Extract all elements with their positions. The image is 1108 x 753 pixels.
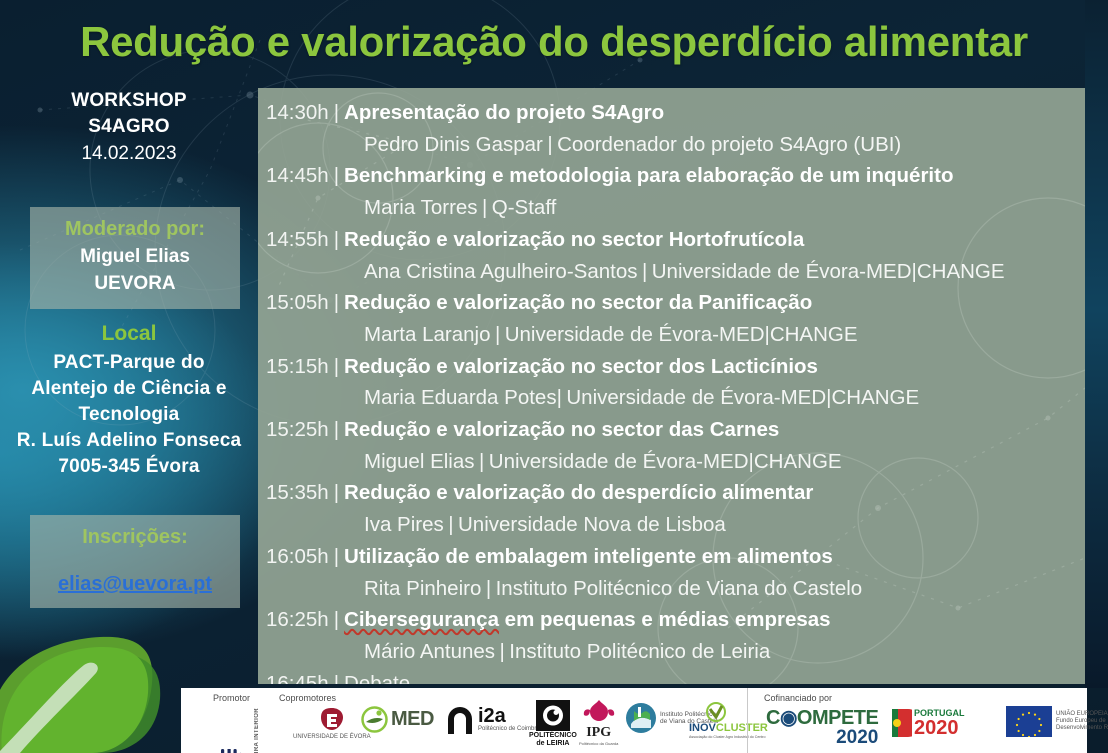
program-speaker: Maria Torres [364, 196, 478, 219]
program-time: 16:25h [266, 608, 329, 631]
i2a-mark-icon [445, 705, 475, 734]
portugal-logo-year: 2020 [914, 718, 965, 738]
program-separator: | [329, 355, 344, 378]
program-affiliation: Coordenador do projeto S4Agro (UBI) [557, 133, 901, 156]
program-time: 15:15h [266, 355, 329, 378]
program-title-misspelled-word: Cibersegurança [344, 608, 499, 631]
program-title: Debate [344, 672, 410, 684]
ipvc-mark-icon [625, 702, 657, 734]
registration-email-link[interactable]: elias@uevora.pt [58, 573, 212, 596]
program-speaker-separator: | [479, 450, 484, 473]
program-title: Redução e valorização no sector dos Lact… [344, 355, 818, 378]
politecnico-de-leiria-logo: POLITÉCNICO de LEIRIA [529, 700, 577, 748]
program-speaker: Pedro Dinis Gaspar [364, 133, 543, 156]
poster-canvas: Redução e valorização do desperdício ali… [0, 0, 1108, 753]
program-speaker-row: Maria Eduarda Potes| Universidade de Évo… [266, 383, 1085, 415]
program-time: 15:05h [266, 291, 329, 314]
program-speaker-row: Mário Antunes | Instituto Politécnico de… [266, 637, 1085, 669]
program-speaker-row: Iva Pires | Universidade Nova de Lisboa [266, 510, 1085, 542]
program-speaker-row: Rita Pinheiro | Instituto Politécnico de… [266, 574, 1085, 606]
program-speaker-row: Maria Torres | Q-Staff [266, 193, 1085, 225]
ipg-logo-subtext: Politécnico da Guarda [579, 740, 618, 747]
program-separator: | [329, 481, 344, 504]
workshop-date: 14.02.2023 [0, 140, 258, 168]
local-address: PACT-Parque do Alentejo de Ciência e Tec… [6, 350, 252, 480]
program-speaker-separator: | [495, 323, 500, 346]
program-separator: | [329, 101, 344, 124]
program-separator: | [329, 228, 344, 251]
program-speaker: Marta Laranjo [364, 323, 490, 346]
i2a-logo: i2a Politécnico de Coimbra [445, 705, 540, 734]
program-speaker: Mário Antunes [364, 640, 495, 663]
ubi-mark-icon [217, 744, 251, 753]
moderator-box: Moderado por: Miguel Elias UEVORA [30, 207, 240, 309]
eu-logo-subtext: Fundo Europeu de Desenvolvimento Regiona… [1056, 718, 1108, 732]
program-affiliation: Universidade Nova de Lisboa [458, 513, 726, 536]
universidade-de-evora-logo: UNIVERSIDADE DE ÉVORA [293, 706, 371, 741]
program-speaker-separator: | [547, 133, 552, 156]
local-address-line: 7005-345 Évora [6, 454, 252, 480]
program-time: 15:25h [266, 418, 329, 441]
moderator-institution: UEVORA [30, 270, 240, 297]
program-time: 15:35h [266, 481, 329, 504]
program-row: 16:45h|Debate [266, 669, 1085, 684]
uniao-europeia-logo: UNIÃO EUROPEIA Fundo Europeu de Desenvol… [1006, 706, 1108, 737]
program-title-rest: em pequenas e médias empresas [499, 608, 831, 631]
portugal-flag-icon [888, 707, 912, 739]
footer-promoters-section: Promotor Copromotores UNIVERSIDADE BEIRA… [181, 688, 747, 753]
program-speaker-row: Miguel Elias | Universidade de Évora-MED… [266, 447, 1085, 479]
med-mark-icon [361, 706, 388, 733]
program-speaker-separator: | [557, 386, 562, 409]
compete-logo-text: C◉OMPETE [766, 708, 878, 728]
footer-cofinance-section: Cofinanciado por C◉OMPETE 2020 PORTUGAL … [747, 688, 1087, 753]
program-speaker-separator: | [482, 196, 487, 219]
copromoters-caption: Copromotores [279, 693, 336, 703]
registration-heading: Inscrições: [30, 523, 240, 551]
left-info-column: WORKSHOP S4AGRO 14.02.2023 Moderado por:… [0, 88, 258, 688]
program-row: 14:55h|Redução e valorização no sector H… [266, 225, 1085, 257]
program-speaker-row: Pedro Dinis Gaspar | Coordenador do proj… [266, 130, 1085, 162]
program-speaker: Iva Pires [364, 513, 444, 536]
leiria-logo-subtext: de LEIRIA [529, 740, 577, 748]
program-separator: | [329, 672, 344, 684]
eu-logo-text: UNIÃO EUROPEIA [1056, 711, 1108, 718]
leiria-logo-text: POLITÉCNICO [529, 732, 577, 740]
program-affiliation: Universidade de Évora-MED|CHANGE [505, 323, 858, 346]
local-heading: Local [0, 320, 258, 348]
moderator-name: Miguel Elias [30, 243, 240, 270]
ipg-mark-icon [581, 698, 617, 726]
program-speaker: Ana Cristina Agulheiro-Santos [364, 260, 638, 283]
registration-box: Inscrições: elias@uevora.pt [30, 515, 240, 608]
program-title: Utilização de embalagem inteligente em a… [344, 545, 833, 568]
moderator-heading: Moderado por: [30, 215, 240, 243]
program-panel: 14:30h|Apresentação do projeto S4Agro Pe… [258, 88, 1085, 684]
program-title: Redução e valorização no sector da Panif… [344, 291, 812, 314]
program-speaker-row: Ana Cristina Agulheiro-Santos | Universi… [266, 257, 1085, 289]
program-speaker-row: Marta Laranjo | Universidade de Évora-ME… [266, 320, 1085, 352]
cofinanced-caption: Cofinanciado por [764, 693, 832, 703]
program-affiliation: Universidade de Évora-MED|CHANGE [489, 450, 842, 473]
program-speaker: Maria Eduarda Potes [364, 386, 557, 409]
program-affiliation: Universidade de Évora-MED|CHANGE [652, 260, 1005, 283]
program-speaker-separator: | [500, 640, 505, 663]
inovcluster-mark-icon [703, 702, 729, 722]
program-row: 15:25h|Redução e valorização no sector d… [266, 415, 1085, 447]
program-title: Redução e valorização no sector das Carn… [344, 418, 779, 441]
local-address-line: Alentejo de Ciência e [6, 376, 252, 402]
program-time: 16:45h [266, 672, 329, 684]
ubi-logo: UNIVERSIDADE BEIRA INTERIOR [217, 708, 261, 753]
right-edge-strip [1085, 0, 1108, 688]
program-speaker-separator: | [486, 577, 491, 600]
program-title: Benchmarking e metodologia para elaboraç… [344, 164, 953, 187]
compete-logo-year: 2020 [836, 728, 878, 747]
program-separator: | [329, 291, 344, 314]
program-row: 14:30h|Apresentação do projeto S4Agro [266, 98, 1085, 130]
eu-flag-icon [1006, 706, 1052, 737]
workshop-label: WORKSHOP [0, 88, 258, 114]
leiria-mark-icon [536, 700, 570, 731]
program-time: 14:45h [266, 164, 329, 187]
ipg-logo-text: IPG [579, 726, 618, 740]
program-title: Apresentação do projeto S4Agro [344, 101, 664, 124]
ipg-logo: IPG Politécnico da Guarda [579, 698, 618, 747]
compete-2020-logo: C◉OMPETE 2020 [766, 708, 878, 747]
program-rows: 14:30h|Apresentação do projeto S4Agro Pe… [258, 88, 1085, 684]
program-affiliation: Universidade de Évora-MED|CHANGE [566, 386, 919, 409]
program-title: Redução e valorização do desperdício ali… [344, 481, 813, 504]
program-row: 15:15h|Redução e valorização no sector d… [266, 352, 1085, 384]
program-affiliation: Instituto Politécnico de Leiria [509, 640, 770, 663]
program-title: Redução e valorização no sector Hortofru… [344, 228, 804, 251]
program-time: 14:30h [266, 101, 329, 124]
promoter-caption: Promotor [213, 693, 250, 703]
local-address-line: PACT-Parque do [6, 350, 252, 376]
program-row: 15:35h|Redução e valorização do desperdí… [266, 478, 1085, 510]
med-logo: MED [361, 706, 434, 733]
local-address-line: R. Luís Adelino Fonseca [6, 428, 252, 454]
portugal-2020-logo: PORTUGAL 2020 [888, 707, 965, 739]
program-separator: | [329, 545, 344, 568]
local-address-line: Tecnologia [6, 402, 252, 428]
program-affiliation: Instituto Politécnico de Viana do Castel… [496, 577, 863, 600]
program-speaker-separator: | [642, 260, 647, 283]
program-row: 15:05h|Redução e valorização no sector d… [266, 288, 1085, 320]
program-separator: | [329, 608, 344, 631]
program-row: 16:25h|Cibersegurança em pequenas e médi… [266, 605, 1085, 637]
program-separator: | [329, 418, 344, 441]
workshop-name: S4AGRO [0, 114, 258, 140]
program-time: 16:05h [266, 545, 329, 568]
program-time: 14:55h [266, 228, 329, 251]
program-speaker: Miguel Elias [364, 450, 475, 473]
program-row: 16:05h|Utilização de embalagem inteligen… [266, 542, 1085, 574]
program-affiliation: Q-Staff [492, 196, 557, 219]
page-title: Redução e valorização do desperdício ali… [0, 18, 1108, 66]
footer-logo-bar: Promotor Copromotores UNIVERSIDADE BEIRA… [181, 688, 1087, 753]
program-speaker: Rita Pinheiro [364, 577, 481, 600]
program-separator: | [329, 164, 344, 187]
program-speaker-separator: | [448, 513, 453, 536]
uevora-logo-text: UNIVERSIDADE DE ÉVORA [293, 734, 371, 741]
ubi-logo-text: UNIVERSIDADE BEIRA INTERIOR [254, 708, 261, 753]
uevora-mark-icon [313, 706, 351, 732]
med-logo-text: MED [391, 710, 434, 729]
program-row: 14:45h|Benchmarking e metodologia para e… [266, 161, 1085, 193]
